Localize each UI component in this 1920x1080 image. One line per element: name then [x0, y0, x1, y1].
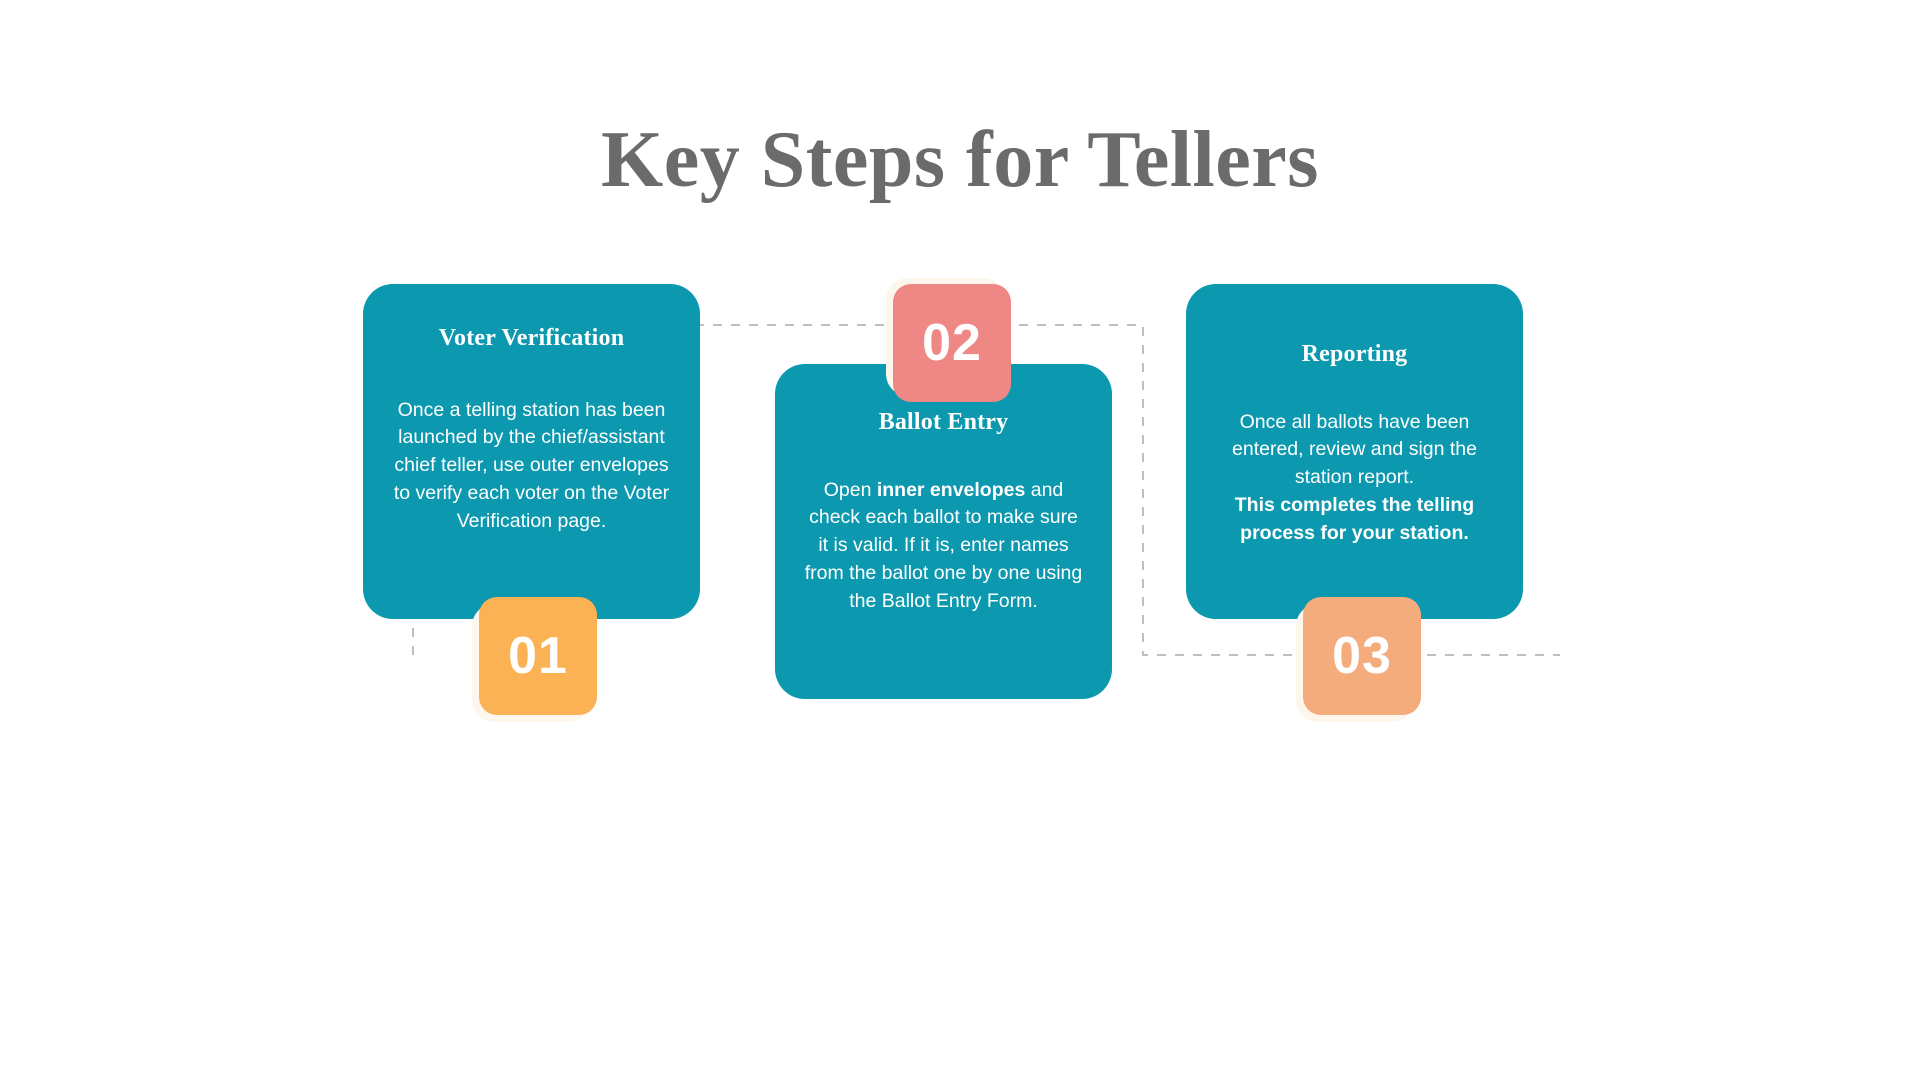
- step-badge-02[interactable]: 02: [893, 284, 1011, 402]
- step-card-voter-verification[interactable]: Voter Verification Once a telling statio…: [363, 284, 700, 619]
- page-title: Key Steps for Tellers: [0, 118, 1920, 202]
- step-card-title: Ballot Entry: [803, 408, 1084, 437]
- step-card-body: Once a telling station has been launched…: [391, 397, 672, 535]
- step-card-ballot-entry[interactable]: Ballot Entry Open inner envelopes and ch…: [775, 364, 1112, 699]
- step-badge-03[interactable]: 03: [1303, 597, 1421, 715]
- step-card-reporting[interactable]: Reporting Once all ballots have been ent…: [1186, 284, 1523, 619]
- step-card-title: Voter Verification: [391, 324, 672, 353]
- step-card-body: Once all ballots have been entered, revi…: [1214, 409, 1495, 547]
- step-card-title: Reporting: [1214, 340, 1495, 369]
- step-card-body: Open inner envelopes and check each ball…: [803, 477, 1084, 615]
- slide-canvas: Key Steps for Tellers Voter Verification…: [0, 0, 1920, 1080]
- step-badge-01[interactable]: 01: [479, 597, 597, 715]
